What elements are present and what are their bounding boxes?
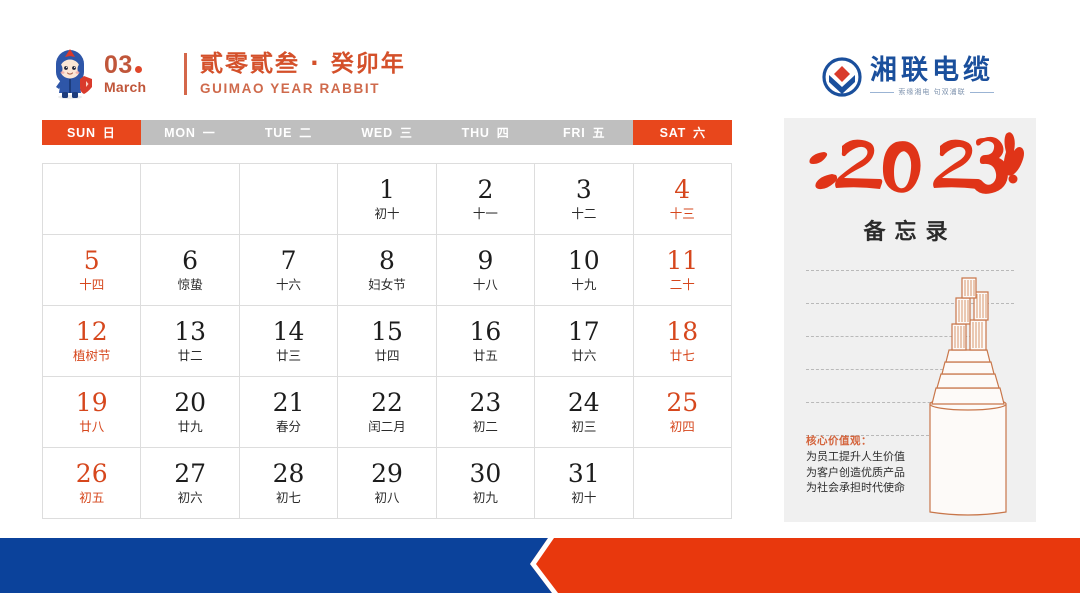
lunar-label: 初八	[374, 489, 399, 506]
day-number: 29	[371, 460, 403, 488]
calendar-day-4[interactable]: 4十三	[634, 164, 732, 235]
lunar-label: 初十	[571, 489, 596, 506]
lunar-label: 廿九	[178, 418, 203, 435]
calendar-day-12[interactable]: 12植树节	[43, 306, 141, 377]
weekday-header-mon: MON一	[141, 120, 240, 145]
lunar-label: 廿三	[276, 347, 301, 364]
lunar-label: 初六	[178, 489, 203, 506]
calendar-week-row: 19廿八20廿九21春分22闰二月23初二24初三25初四	[43, 377, 732, 448]
weekday-cn: 二	[299, 124, 312, 141]
core-values-list: 为员工提升人生价值为客户创造优质产品为社会承担时代使命	[806, 449, 956, 496]
company-logo: 湘联电缆 索缘湘电 句双浦联	[822, 56, 994, 97]
month-dot-icon	[135, 66, 142, 73]
day-number: 1	[379, 176, 395, 204]
weekday-en: WED	[361, 126, 393, 140]
month-number: 03	[104, 53, 170, 78]
calendar-day-11[interactable]: 11二十	[634, 235, 732, 306]
lunar-label: 初五	[79, 489, 104, 506]
weekday-header-sat: SAT六	[633, 120, 732, 145]
calendar-page: 03 March 貳零貳叁 · 癸卯年 GUIMAO YEAR RABBIT 湘…	[0, 0, 1080, 593]
calendar-day-29[interactable]: 29初八	[338, 448, 436, 519]
memo-note-line[interactable]	[806, 270, 1014, 271]
calendar-day-9[interactable]: 9十八	[437, 235, 535, 306]
weekday-header-thu: THU四	[436, 120, 535, 145]
day-number: 20	[174, 389, 206, 417]
mascot-shield-character-icon	[48, 46, 94, 102]
lunar-label: 妇女节	[368, 276, 406, 293]
day-number: 10	[568, 247, 600, 275]
weekday-header-tue: TUE二	[239, 120, 338, 145]
header-divider	[184, 53, 187, 95]
lunar-label: 十一	[473, 205, 498, 222]
day-number: 24	[568, 389, 600, 417]
core-value-item: 为社会承担时代使命	[806, 480, 956, 496]
calendar-day-5[interactable]: 5十四	[43, 235, 141, 306]
weekday-en: SUN	[67, 126, 96, 140]
year-english-label: GUIMAO YEAR RABBIT	[200, 80, 406, 97]
day-number: 17	[568, 318, 600, 346]
weekday-cn: 四	[497, 124, 510, 141]
weekday-en: MON	[164, 126, 196, 140]
lunar-label: 廿五	[473, 347, 498, 364]
lunar-label: 初三	[571, 418, 596, 435]
lunar-label: 十四	[79, 276, 104, 293]
day-number: 15	[371, 318, 403, 346]
day-number: 19	[76, 389, 108, 417]
lunar-label: 惊蛰	[178, 276, 203, 293]
day-number: 12	[76, 318, 108, 346]
core-value-item: 为员工提升人生价值	[806, 449, 956, 465]
calendar-day-2[interactable]: 2十一	[437, 164, 535, 235]
calendar-day-21[interactable]: 21春分	[240, 377, 338, 448]
weekday-cn: 日	[103, 124, 116, 141]
calendar-day-20[interactable]: 20廿九	[141, 377, 239, 448]
calendar-day-22[interactable]: 22闰二月	[338, 377, 436, 448]
calendar-day-18[interactable]: 18廿七	[634, 306, 732, 377]
day-number: 8	[379, 247, 395, 275]
calendar-cell-empty	[634, 448, 732, 519]
calendar-day-13[interactable]: 13廿二	[141, 306, 239, 377]
company-slogan: 索缘湘电 句双浦联	[898, 87, 965, 97]
weekday-en: TUE	[265, 126, 292, 140]
day-number: 14	[273, 318, 305, 346]
calendar-day-8[interactable]: 8妇女节	[338, 235, 436, 306]
day-number: 23	[469, 389, 501, 417]
day-number: 7	[281, 247, 297, 275]
memo-panel: 备忘录	[784, 118, 1036, 522]
day-number: 16	[469, 318, 501, 346]
lunar-label: 廿八	[79, 418, 104, 435]
calendar-cell-empty	[240, 164, 338, 235]
core-values-block: 核心价值观： 为员工提升人生价值为客户创造优质产品为社会承担时代使命	[806, 434, 956, 496]
day-number: 6	[182, 247, 198, 275]
calendar-day-23[interactable]: 23初二	[437, 377, 535, 448]
xianglian-cable-logo-icon	[822, 57, 862, 97]
day-number: 9	[477, 247, 493, 275]
lunar-label: 植树节	[73, 347, 111, 364]
calendar-day-1[interactable]: 1初十	[338, 164, 436, 235]
calendar-day-15[interactable]: 15廿四	[338, 306, 436, 377]
day-number: 30	[469, 460, 501, 488]
day-number: 3	[576, 176, 592, 204]
calendar-grid-container: SUN日MON一TUE二WED三THU四FRI五SAT六 1初十2十一3十二4十…	[42, 120, 732, 519]
calendar-day-30[interactable]: 30初九	[437, 448, 535, 519]
weekday-cn: 一	[203, 124, 216, 141]
weekday-header-fri: FRI五	[535, 120, 634, 145]
company-slogan-row: 索缘湘电 句双浦联	[870, 87, 994, 97]
calendar-day-6[interactable]: 6惊蛰	[141, 235, 239, 306]
bottom-banner	[0, 538, 1080, 593]
lunar-label: 闰二月	[368, 418, 406, 435]
weekday-header-wed: WED三	[338, 120, 437, 145]
month-number-text: 03	[104, 51, 133, 79]
calendar-day-24[interactable]: 24初三	[535, 377, 633, 448]
lunar-label: 廿七	[670, 347, 695, 364]
day-number: 22	[371, 389, 403, 417]
calendar-day-10[interactable]: 10十九	[535, 235, 633, 306]
weekday-cn: 五	[593, 124, 606, 141]
memo-title: 备忘录	[784, 214, 1036, 246]
lunar-label: 春分	[276, 418, 301, 435]
lunar-label: 十二	[571, 205, 596, 222]
lunar-label: 初四	[670, 418, 695, 435]
day-number: 4	[674, 176, 690, 204]
slogan-rule-left	[870, 92, 894, 93]
calendar-day-28[interactable]: 28初七	[240, 448, 338, 519]
lunar-label: 初七	[276, 489, 301, 506]
calendar-day-17[interactable]: 17廿六	[535, 306, 633, 377]
calendar-day-26[interactable]: 26初五	[43, 448, 141, 519]
company-name: 湘联电缆	[870, 56, 994, 85]
day-number: 18	[666, 318, 698, 346]
core-values-title: 核心价值观：	[806, 434, 956, 449]
day-number: 27	[174, 460, 206, 488]
calendar-week-row: 1初十2十一3十二4十三	[43, 164, 732, 235]
calendar-week-row: 26初五27初六28初七29初八30初九31初十	[43, 448, 732, 519]
month-block: 03 March	[104, 53, 170, 96]
calendar-day-27[interactable]: 27初六	[141, 448, 239, 519]
calendar-cell-empty	[141, 164, 239, 235]
day-number: 21	[273, 389, 305, 417]
month-brand-block: 03 March 貳零貳叁 · 癸卯年 GUIMAO YEAR RABBIT	[48, 46, 406, 102]
weekday-en: SAT	[660, 126, 686, 140]
day-number: 5	[84, 247, 100, 275]
core-value-item: 为客户创造优质产品	[806, 465, 956, 481]
calendar-day-31[interactable]: 31初十	[535, 448, 633, 519]
lunar-label: 十九	[571, 276, 596, 293]
lunar-label: 廿六	[571, 347, 596, 364]
rabbit-brush-2023-icon	[784, 130, 1036, 202]
calendar-day-3[interactable]: 3十二	[535, 164, 633, 235]
day-number: 13	[174, 318, 206, 346]
calendar-week-row: 5十四6惊蛰7十六8妇女节9十八10十九11二十	[43, 235, 732, 306]
calendar-day-25[interactable]: 25初四	[634, 377, 732, 448]
lunar-label: 初九	[473, 489, 498, 506]
weekday-header-row: SUN日MON一TUE二WED三THU四FRI五SAT六	[42, 120, 732, 145]
lunar-label: 二十	[670, 276, 695, 293]
month-name: March	[104, 79, 170, 96]
day-number: 28	[273, 460, 305, 488]
lunar-label: 廿二	[178, 347, 203, 364]
lunar-label: 十八	[473, 276, 498, 293]
year-block: 貳零貳叁 · 癸卯年 GUIMAO YEAR RABBIT	[200, 51, 406, 97]
weekday-en: THU	[462, 126, 490, 140]
calendar-grid: 1初十2十一3十二4十三5十四6惊蛰7十六8妇女节9十八10十九11二十12植树…	[42, 163, 732, 519]
day-number: 31	[568, 460, 600, 488]
slogan-rule-right	[970, 92, 994, 93]
day-number: 26	[76, 460, 108, 488]
calendar-cell-empty	[43, 164, 141, 235]
weekday-header-sun: SUN日	[42, 120, 141, 145]
calendar-day-14[interactable]: 14廿三	[240, 306, 338, 377]
weekday-cn: 六	[693, 124, 706, 141]
day-number: 2	[477, 176, 493, 204]
page-header: 03 March 貳零貳叁 · 癸卯年 GUIMAO YEAR RABBIT 湘…	[0, 0, 1080, 118]
lunar-label: 十三	[670, 205, 695, 222]
calendar-day-16[interactable]: 16廿五	[437, 306, 535, 377]
weekday-cn: 三	[400, 124, 413, 141]
lunar-label: 廿四	[374, 347, 399, 364]
weekday-en: FRI	[563, 126, 586, 140]
day-number: 11	[666, 247, 698, 275]
day-number: 25	[666, 389, 698, 417]
calendar-day-7[interactable]: 7十六	[240, 235, 338, 306]
lunar-label: 初十	[374, 205, 399, 222]
calendar-day-19[interactable]: 19廿八	[43, 377, 141, 448]
calendar-week-row: 12植树节13廿二14廿三15廿四16廿五17廿六18廿七	[43, 306, 732, 377]
company-logo-text: 湘联电缆 索缘湘电 句双浦联	[870, 56, 994, 97]
year-chinese-label: 貳零貳叁 · 癸卯年	[200, 51, 406, 78]
lunar-label: 十六	[276, 276, 301, 293]
lunar-label: 初二	[473, 418, 498, 435]
